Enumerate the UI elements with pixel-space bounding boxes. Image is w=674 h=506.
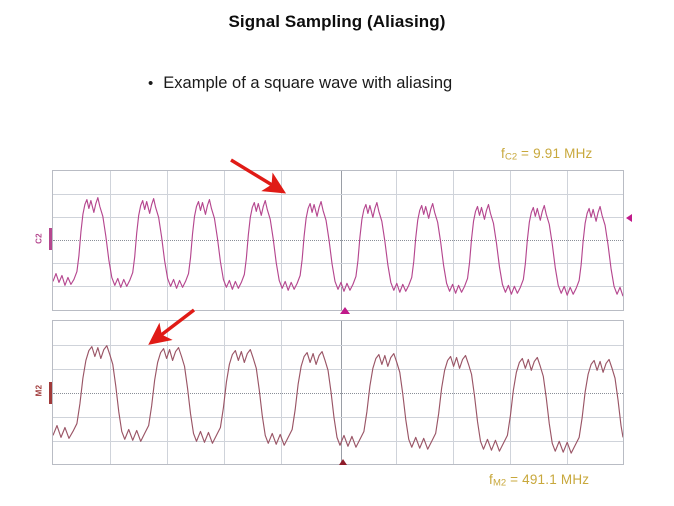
bullet-marker: • — [148, 76, 153, 91]
channel-label-bottom: M2 — [35, 382, 44, 400]
waveform-trace-top — [53, 171, 623, 310]
channel-reference-marker-top — [49, 228, 52, 250]
page-title: Signal Sampling (Aliasing) — [0, 12, 674, 32]
freq-value-bottom: = 491.1 MHz — [506, 472, 589, 487]
bullet-item-label: Example of a square wave with aliasing — [163, 74, 452, 93]
freq-subscript-top: C2 — [505, 152, 517, 163]
frequency-label-top: fC2 = 9.91 MHz — [501, 146, 592, 163]
channel-reference-marker-bottom — [49, 382, 52, 404]
oscilloscope-panel-bottom — [52, 320, 624, 465]
oscilloscope-panel-top — [52, 170, 624, 311]
freq-subscript-bottom: M2 — [493, 478, 506, 489]
freq-value-top: = 9.91 MHz — [517, 146, 592, 161]
level-marker-right — [626, 214, 632, 222]
waveform-trace-bottom — [53, 321, 623, 464]
channel-label-top: C2 — [35, 230, 44, 248]
frequency-label-bottom: fM2 = 491.1 MHz — [489, 472, 589, 489]
trigger-position-marker-bottom — [339, 459, 347, 465]
trigger-position-marker-top — [340, 307, 350, 314]
presentation-slide: Signal Sampling (Aliasing) • Example of … — [0, 0, 674, 506]
bullet-list-item: • Example of a square wave with aliasing — [148, 74, 452, 93]
